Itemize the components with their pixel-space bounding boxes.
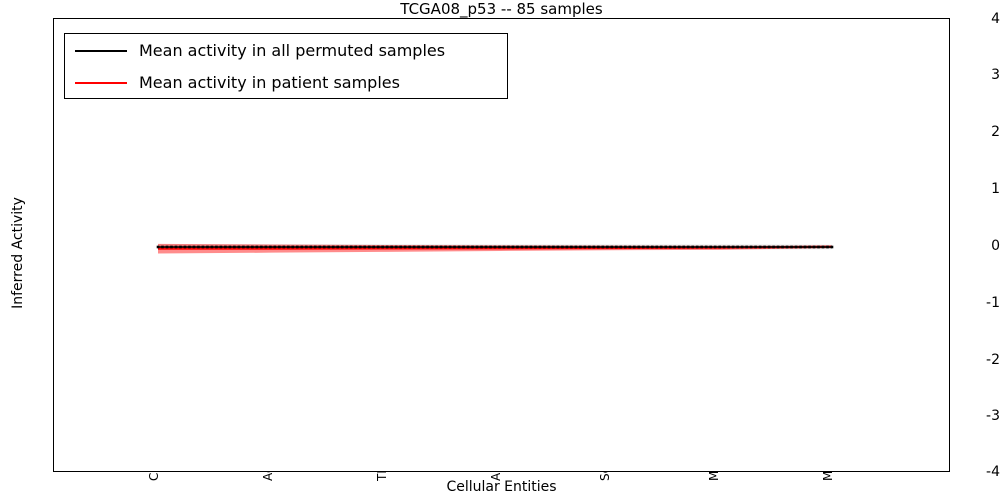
- data-point-marker: [193, 246, 196, 249]
- data-point-marker: [395, 246, 398, 249]
- data-point-marker: [278, 246, 281, 249]
- data-point-marker: [242, 246, 245, 249]
- y-tick-label-2: 2: [966, 124, 1000, 140]
- data-point-marker: [489, 246, 492, 249]
- data-point-marker: [354, 246, 357, 249]
- data-point-marker: [525, 246, 528, 249]
- data-point-marker: [584, 246, 587, 249]
- data-point-marker: [166, 246, 169, 249]
- data-point-marker: [512, 246, 515, 249]
- y-tick-label-4: 4: [966, 11, 1000, 27]
- data-point-marker: [552, 246, 555, 249]
- data-point-marker: [727, 246, 730, 249]
- data-point-marker: [759, 246, 762, 249]
- y-tick-label-n4: -4: [966, 464, 1000, 480]
- data-point-marker: [772, 246, 775, 249]
- legend-entry-patient: Mean activity in patient samples: [65, 66, 507, 99]
- data-point-marker: [215, 246, 218, 249]
- data-point-marker: [624, 246, 627, 249]
- legend-swatch-patient: [75, 82, 127, 84]
- data-point-marker: [184, 246, 187, 249]
- data-point-marker: [327, 246, 330, 249]
- legend-swatch-permuted: [75, 50, 127, 52]
- data-point-marker: [822, 246, 825, 249]
- data-point-marker: [444, 246, 447, 249]
- data-point-marker: [642, 246, 645, 249]
- data-point-marker: [575, 246, 578, 249]
- data-point-marker: [570, 246, 573, 249]
- data-point-marker: [750, 246, 753, 249]
- data-point-marker: [629, 246, 632, 249]
- data-point-marker: [305, 246, 308, 249]
- data-point-marker: [557, 246, 560, 249]
- data-point-marker: [188, 246, 191, 249]
- data-point-marker: [691, 246, 694, 249]
- data-point-marker: [718, 246, 721, 249]
- data-point-marker: [736, 246, 739, 249]
- data-point-marker: [633, 246, 636, 249]
- data-point-marker: [260, 246, 263, 249]
- data-point-marker: [386, 246, 389, 249]
- data-point-marker: [786, 246, 789, 249]
- data-point-marker: [566, 246, 569, 249]
- data-point-marker: [368, 246, 371, 249]
- data-point-marker: [399, 246, 402, 249]
- data-point-marker: [202, 246, 205, 249]
- data-point-marker: [233, 246, 236, 249]
- y-tick-label-3: 3: [966, 67, 1000, 83]
- data-point-marker: [673, 246, 676, 249]
- y-tick-label-n2: -2: [966, 352, 1000, 368]
- data-point-marker: [808, 246, 811, 249]
- data-point-marker: [229, 246, 232, 249]
- data-point-marker: [345, 246, 348, 249]
- y-tick-label-1: 1: [966, 181, 1000, 197]
- data-point-marker: [817, 246, 820, 249]
- data-point-marker: [741, 246, 744, 249]
- plot-area: Mean activity in all permuted samples Me…: [53, 18, 950, 472]
- data-point-marker: [732, 246, 735, 249]
- data-point-marker: [197, 246, 200, 249]
- data-point-marker: [745, 246, 748, 249]
- data-point-marker: [826, 246, 829, 249]
- data-point-marker: [655, 246, 658, 249]
- data-point-marker: [660, 246, 663, 249]
- data-point-marker: [831, 246, 834, 249]
- data-point-marker: [696, 246, 699, 249]
- data-point-marker: [615, 246, 618, 249]
- data-point-marker: [682, 246, 685, 249]
- data-point-marker: [799, 246, 802, 249]
- data-point-marker: [723, 246, 726, 249]
- data-point-marker: [754, 246, 757, 249]
- data-point-marker: [521, 246, 524, 249]
- data-point-marker: [332, 246, 335, 249]
- data-point-marker: [238, 246, 241, 249]
- data-point-marker: [485, 246, 488, 249]
- data-point-marker: [471, 246, 474, 249]
- data-point-marker: [458, 246, 461, 249]
- legend-label-patient: Mean activity in patient samples: [139, 73, 400, 92]
- data-point-marker: [539, 246, 542, 249]
- data-point-marker: [646, 246, 649, 249]
- data-point-marker: [516, 246, 519, 249]
- data-point-marker: [678, 246, 681, 249]
- data-point-marker: [175, 246, 178, 249]
- data-point-marker: [651, 246, 654, 249]
- data-point-marker: [593, 246, 596, 249]
- data-point-marker: [417, 246, 420, 249]
- data-point-marker: [211, 246, 214, 249]
- data-point-marker: [323, 246, 326, 249]
- data-point-marker: [714, 246, 717, 249]
- data-point-marker: [503, 246, 506, 249]
- data-point-marker: [224, 246, 227, 249]
- data-point-marker: [790, 246, 793, 249]
- data-point-marker: [431, 246, 434, 249]
- data-point-marker: [705, 246, 708, 249]
- data-point-marker: [548, 246, 551, 249]
- data-point-marker: [283, 246, 286, 249]
- data-point-marker: [300, 246, 303, 249]
- data-point-marker: [700, 246, 703, 249]
- data-point-marker: [292, 246, 295, 249]
- data-point-marker: [602, 246, 605, 249]
- data-point-marker: [709, 246, 712, 249]
- data-point-marker: [206, 246, 209, 249]
- data-point-marker: [611, 246, 614, 249]
- data-point-marker: [480, 246, 483, 249]
- y-tick-label-n3: -3: [966, 408, 1000, 424]
- data-point-marker: [336, 246, 339, 249]
- data-point-marker: [309, 246, 312, 249]
- chart-title: TCGA08_p53 -- 85 samples: [53, 0, 950, 18]
- data-point-marker: [157, 246, 160, 249]
- data-point-marker: [768, 246, 771, 249]
- legend-entry-permuted: Mean activity in all permuted samples: [65, 34, 507, 67]
- legend-label-permuted: Mean activity in all permuted samples: [139, 41, 445, 60]
- data-point-marker: [372, 246, 375, 249]
- data-point-marker: [795, 246, 798, 249]
- data-point-marker: [579, 246, 582, 249]
- data-point-marker: [247, 246, 250, 249]
- data-point-marker: [408, 246, 411, 249]
- data-point-marker: [440, 246, 443, 249]
- chart-legend: Mean activity in all permuted samples Me…: [64, 33, 508, 99]
- data-point-marker: [507, 246, 510, 249]
- data-point-marker: [435, 246, 438, 249]
- data-point-marker: [413, 246, 416, 249]
- data-point-marker: [404, 246, 407, 249]
- data-point-marker: [498, 246, 501, 249]
- data-point-marker: [620, 246, 623, 249]
- data-point-marker: [363, 246, 366, 249]
- data-point-marker: [588, 246, 591, 249]
- data-point-marker: [377, 246, 380, 249]
- data-point-marker: [606, 246, 609, 249]
- data-point-marker: [813, 246, 816, 249]
- chart-figure: TCGA08_p53 -- 85 samples Inferred Activi…: [0, 0, 1000, 500]
- data-point-marker: [318, 246, 321, 249]
- x-axis-label: Cellular Entities: [53, 479, 950, 495]
- data-point-marker: [763, 246, 766, 249]
- data-point-marker: [543, 246, 546, 249]
- data-point-marker: [597, 246, 600, 249]
- data-point-marker: [422, 246, 425, 249]
- data-point-marker: [341, 246, 344, 249]
- data-point-marker: [161, 246, 164, 249]
- data-point-marker: [256, 246, 259, 249]
- data-point-marker: [449, 246, 452, 249]
- data-point-marker: [467, 246, 470, 249]
- data-point-marker: [359, 246, 362, 249]
- data-point-marker: [637, 246, 640, 249]
- y-tick-label-0: 0: [966, 238, 1000, 254]
- data-point-marker: [561, 246, 564, 249]
- data-point-marker: [265, 246, 268, 249]
- data-point-marker: [179, 246, 182, 249]
- data-point-marker: [777, 246, 780, 249]
- data-point-marker: [170, 246, 173, 249]
- data-point-marker: [687, 246, 690, 249]
- data-point-marker: [453, 246, 456, 249]
- data-point-marker: [296, 246, 299, 249]
- data-point-marker: [314, 246, 317, 249]
- data-point-marker: [381, 246, 384, 249]
- data-point-marker: [269, 246, 272, 249]
- data-point-marker: [251, 246, 254, 249]
- y-axis-label: Inferred Activity: [10, 173, 26, 333]
- data-point-marker: [476, 246, 479, 249]
- y-tick-label-n1: -1: [966, 295, 1000, 311]
- data-point-marker: [534, 246, 537, 249]
- data-point-marker: [664, 246, 667, 249]
- data-point-marker: [390, 246, 393, 249]
- data-point-marker: [350, 246, 353, 249]
- data-point-marker: [781, 246, 784, 249]
- data-point-marker: [274, 246, 277, 249]
- data-point-marker: [426, 246, 429, 249]
- data-point-marker: [804, 246, 807, 249]
- data-point-marker: [220, 246, 223, 249]
- data-point-marker: [287, 246, 290, 249]
- data-point-marker: [530, 246, 533, 249]
- data-point-marker: [669, 246, 672, 249]
- data-point-marker: [494, 246, 497, 249]
- data-point-marker: [462, 246, 465, 249]
